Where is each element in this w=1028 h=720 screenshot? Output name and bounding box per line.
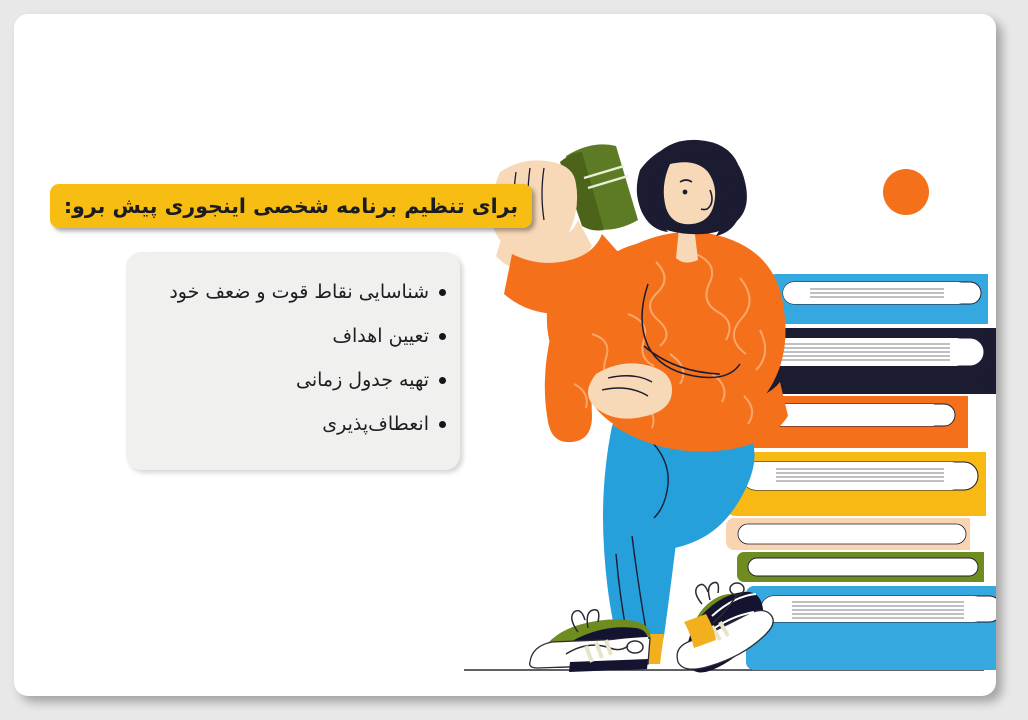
list-item: انعطاف‌پذیری	[126, 402, 446, 446]
orange-circle-accent	[883, 169, 929, 215]
book-6	[737, 552, 984, 582]
list-item-label: تعیین اهداف	[332, 327, 429, 346]
list-item-label: شناسایی نقاط قوت و ضعف خود	[169, 283, 429, 302]
title-banner: برای تنظیم برنامه شخصی اینجوری پیش برو:	[50, 184, 532, 228]
bullet-dot-icon	[439, 333, 446, 340]
list-item: تهیه جدول زمانی	[126, 358, 446, 402]
book-4	[724, 452, 986, 516]
slide-stage: برای تنظیم برنامه شخصی اینجوری پیش برو: …	[0, 0, 1028, 720]
slide-card: برای تنظیم برنامه شخصی اینجوری پیش برو: …	[14, 14, 996, 696]
list-item: تعیین اهداف	[126, 314, 446, 358]
book-1	[763, 274, 988, 324]
bullet-panel: شناسایی نقاط قوت و ضعف خود تعیین اهداف ت…	[126, 252, 460, 470]
hand-lower	[588, 363, 672, 418]
page-title: برای تنظیم برنامه شخصی اینجوری پیش برو:	[64, 196, 518, 217]
book-7	[746, 586, 996, 670]
list-item: شناسایی نقاط قوت و ضعف خود	[126, 270, 446, 314]
list-item-label: تهیه جدول زمانی	[296, 371, 429, 390]
list-item-label: انعطاف‌پذیری	[322, 415, 429, 434]
bullet-dot-icon	[439, 289, 446, 296]
bullet-list: شناسایی نقاط قوت و ضعف خود تعیین اهداف ت…	[126, 270, 460, 446]
bullet-dot-icon	[439, 377, 446, 384]
head	[637, 140, 747, 236]
bullet-dot-icon	[439, 421, 446, 428]
book-5	[726, 518, 970, 550]
